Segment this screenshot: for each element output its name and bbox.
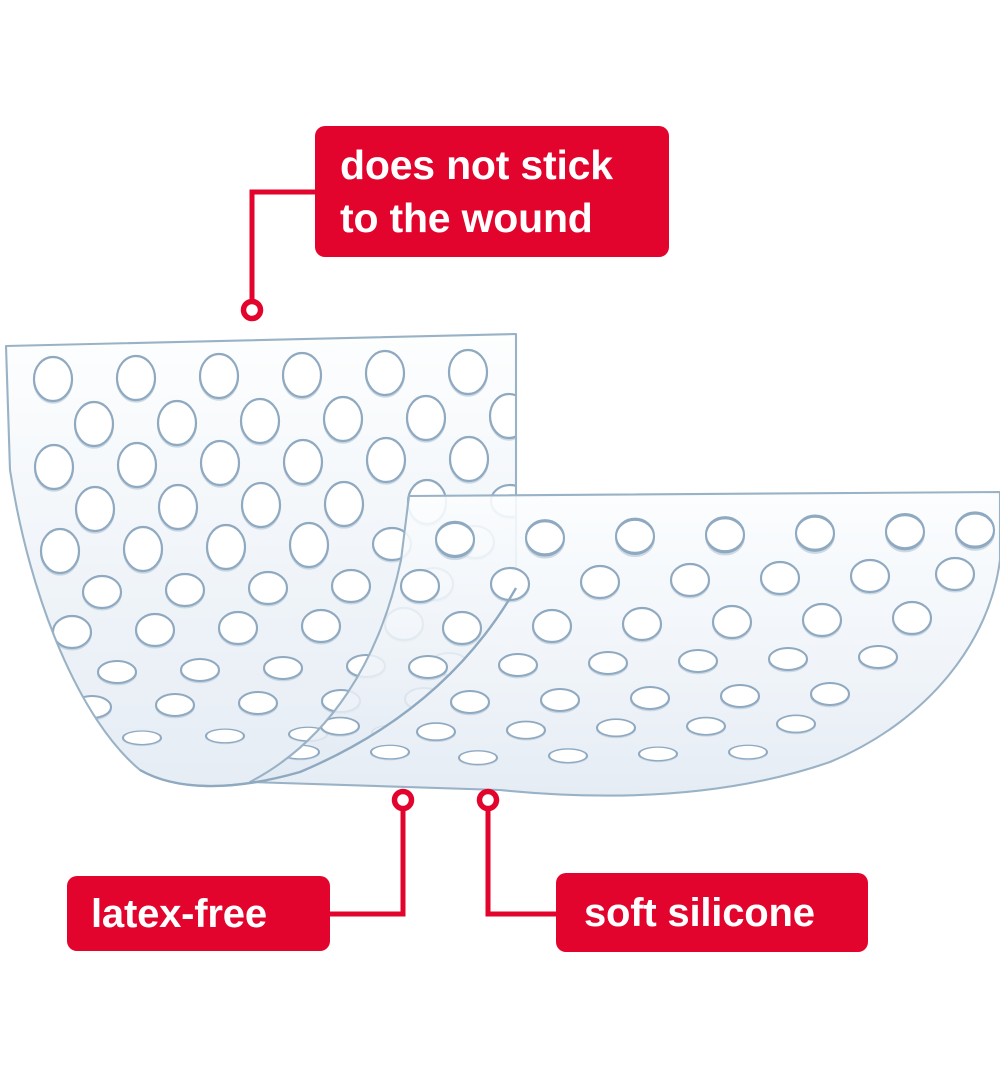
callout-latex-free[interactable]: latex-free <box>67 876 330 951</box>
callout-soft-silicone[interactable]: soft silicone <box>556 873 868 952</box>
callout-soft-silicone-label: soft silicone <box>584 892 815 934</box>
callout-does-not-stick-line1: does not stick <box>340 139 613 192</box>
callout-does-not-stick-line2: to the wound <box>340 192 593 245</box>
callout-does-not-stick[interactable]: does not stick to the wound <box>315 126 669 257</box>
illustration-canvas: does not stick to the wound latex-free s… <box>0 0 1000 1082</box>
callout-latex-free-label: latex-free <box>91 893 267 935</box>
